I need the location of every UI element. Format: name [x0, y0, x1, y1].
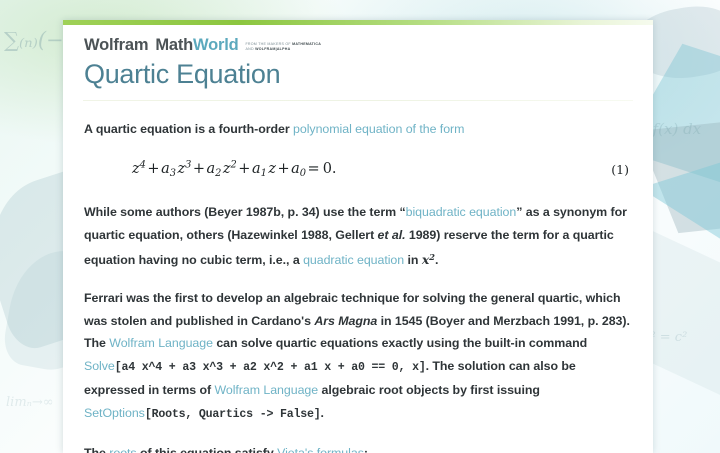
eq-op-plus-1: + [146, 161, 161, 177]
eq-term-z4: z4 [132, 161, 146, 177]
link-biquadratic-equation[interactable]: biquadratic equation [406, 205, 517, 219]
p3-text-c: can solve quartic equations exactly usin… [213, 336, 587, 350]
logo-math-text: Math [155, 36, 193, 54]
link-polynomial-equation[interactable]: polynomial equation of the form [293, 122, 464, 136]
equation-block-1: z4+a3 z3+a2 z2+a1 z+a0=0. (1) [84, 155, 632, 186]
logo-mathworld-text: MathWorld [155, 36, 238, 55]
p3-text-f: . [321, 406, 324, 420]
p4-text-a: The [84, 446, 109, 453]
article-body: A quartic equation is a fourth-order pol… [83, 118, 633, 453]
content-card: Wolfram MathWorld FROM THE MAKERS OF MAT… [63, 20, 653, 453]
logo-tagline: FROM THE MAKERS OF MATHEMATICA AND WOLFR… [245, 42, 321, 55]
code-solve-arguments: [a4 x^4 + a3 x^3 + a2 x^2 + a1 x + a0 ==… [115, 361, 426, 374]
link-vietas-formulas[interactable]: Vieta's formulas [277, 446, 364, 453]
link-quadratic-equation[interactable]: quadratic equation [303, 253, 404, 267]
p2-text-a: While some authors (Beyer 1987b, p. 34) … [84, 205, 406, 219]
equation-1-number: (1) [592, 159, 632, 182]
eq-term-zero: 0. [321, 161, 338, 177]
title-divider [83, 100, 633, 101]
p2-text-d: in [404, 253, 422, 267]
equation-1-expression: z4+a3 z3+a2 z2+a1 z+a0=0. [86, 155, 592, 186]
eq-op-plus-2: + [191, 161, 206, 177]
tagline-line1-prefix: FROM THE MAKERS OF [245, 42, 292, 46]
p4-text-c: : [364, 446, 368, 453]
logo-wolfram-text: Wolfram [84, 36, 148, 55]
link-wolfram-language-1[interactable]: Wolfram Language [109, 336, 213, 350]
tagline-line2-prefix: AND [245, 47, 255, 51]
paragraph-biquadratic: While some authors (Beyer 1987b, p. 34) … [84, 201, 632, 271]
code-setoptions-arguments: [Roots, Quartics -> False] [145, 408, 321, 421]
link-solve-command[interactable]: Solve [84, 359, 115, 373]
link-roots[interactable]: roots [109, 446, 136, 453]
p3-text-e: algebraic root objects by first issuing [318, 383, 540, 397]
eq-term-a2z2: a2 z2 [207, 161, 237, 177]
site-logo[interactable]: Wolfram MathWorld FROM THE MAKERS OF MAT… [83, 36, 633, 55]
page-title: Quartic Equation [83, 59, 633, 90]
eq-op-equals: = [306, 161, 321, 177]
background-formula-5: limₙ→∞ [6, 395, 54, 410]
p1-text-a: A quartic equation is a fourth-order [84, 122, 293, 136]
p4-text-b: of this equation satisfy [137, 446, 278, 453]
tagline-wolfram-alpha: WOLFRAM|ALPHA [255, 47, 290, 51]
eq-op-plus-3: + [237, 161, 252, 177]
link-wolfram-language-2[interactable]: Wolfram Language [214, 383, 318, 397]
eq-term-a1z: a1 z [252, 161, 276, 177]
link-setoptions-command[interactable]: SetOptions [84, 406, 145, 420]
p2-italic-et-al: et al. [378, 228, 406, 242]
eq-term-a0: a0 [291, 161, 306, 177]
p3-italic-ars-magna: Ars Magna [314, 314, 377, 328]
eq-term-a3z3: a3 z3 [161, 161, 191, 177]
logo-world-text: World [193, 36, 238, 54]
paragraph-ferrari: Ferrari was the first to develop an alge… [84, 287, 632, 426]
paragraph-vieta: The roots of this equation satisfy Vieta… [84, 442, 632, 453]
eq-op-plus-4: + [276, 161, 291, 177]
paragraph-definition: A quartic equation is a fourth-order pol… [84, 118, 632, 141]
tagline-mathematica: MATHEMATICA [292, 42, 321, 46]
p2-text-e: . [435, 253, 438, 267]
